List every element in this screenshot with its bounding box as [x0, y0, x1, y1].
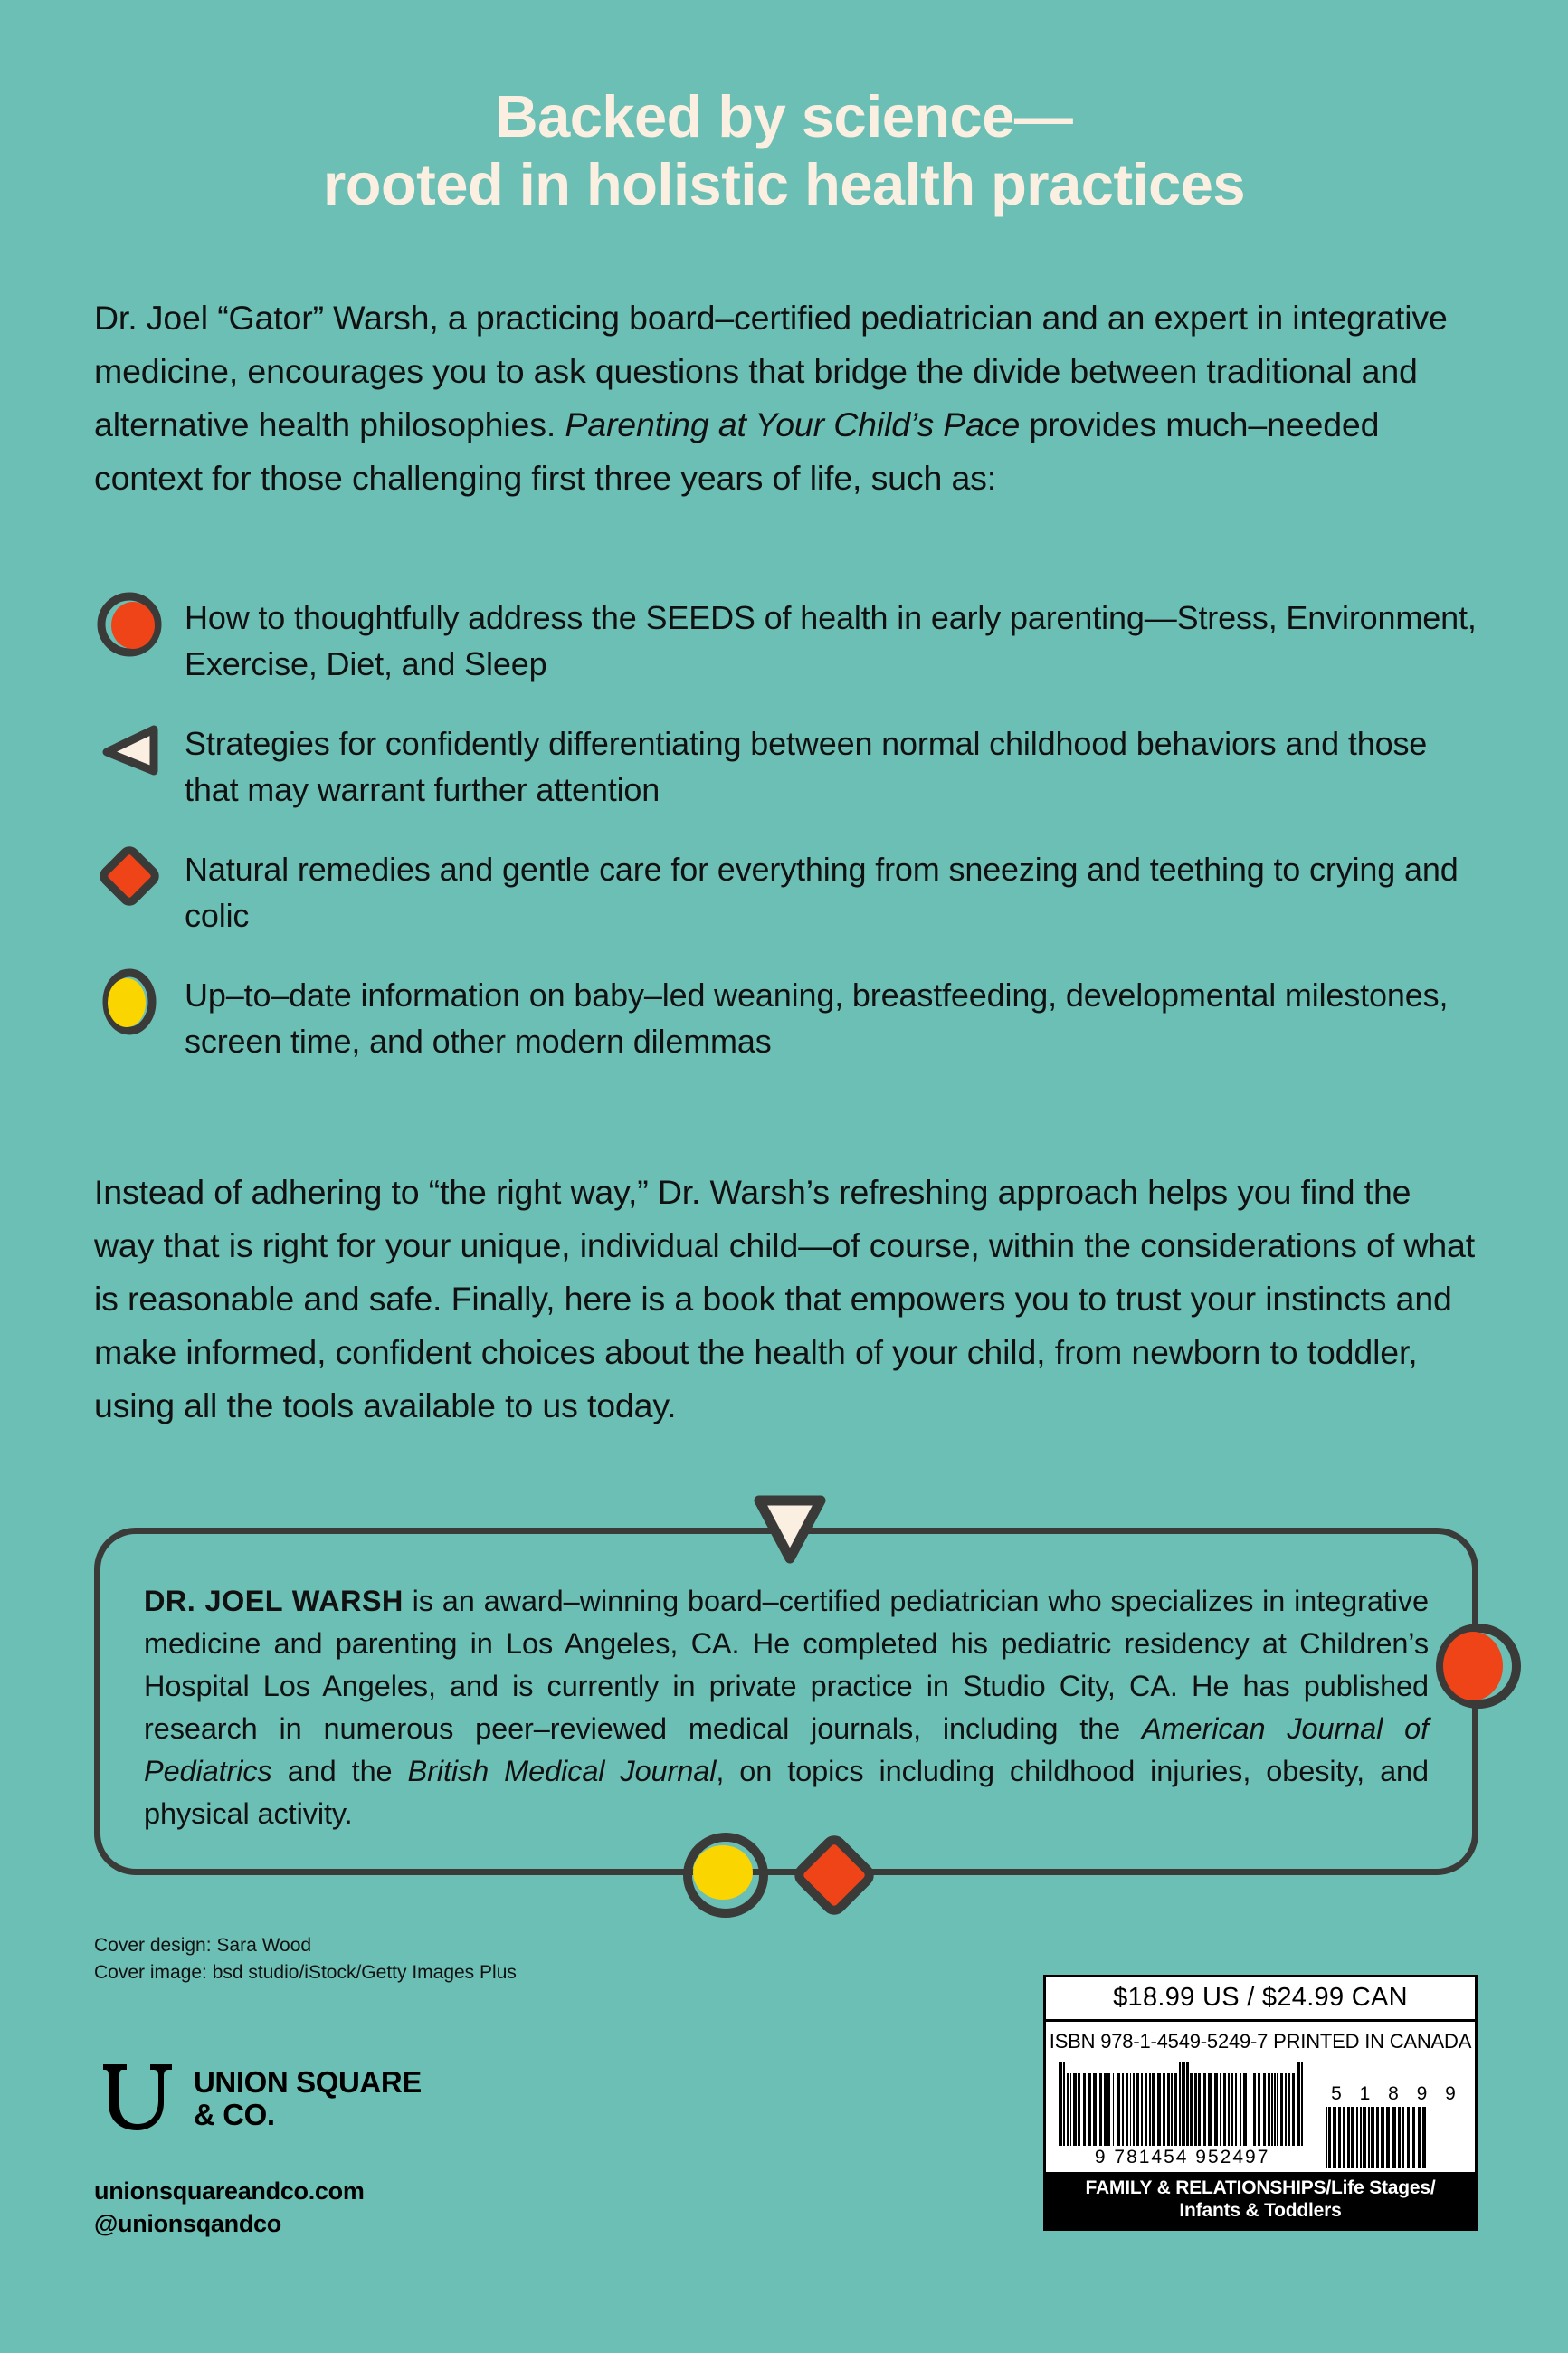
list-item: Up–to–date information on baby–led weani…: [94, 970, 1478, 1064]
isbn-label: ISBN 978-1-4549-5249-7 PRINTED IN CANADA: [1046, 2022, 1475, 2055]
author-name: DR. JOEL WARSH: [144, 1585, 404, 1617]
bisac-line-1: FAMILY & RELATIONSHIPS/Life Stages/: [1050, 2177, 1471, 2199]
list-item: Strategies for confidently differentiati…: [94, 719, 1478, 813]
ean5-digits: 5 1 8 9 9: [1326, 2083, 1462, 2105]
author-bio-text: DR. JOEL WARSH is an award–winning board…: [144, 1580, 1429, 1835]
journal-name-2: British Medical Journal: [408, 1755, 717, 1787]
list-item-label: How to thoughtfully address the SEEDS of…: [185, 593, 1478, 687]
circle-orange-icon: [94, 589, 165, 660]
union-square-u-icon: [94, 2053, 177, 2137]
circle-yellow-icon: [94, 967, 165, 1037]
publisher-social-handle[interactable]: @unionsqandco: [94, 2207, 365, 2240]
ean13-digits: 9 781454 952497: [1059, 2147, 1306, 2168]
cover-credits: Cover design: Sara Wood Cover image: bsd…: [94, 1932, 517, 1986]
publisher-website[interactable]: unionsquareandco.com: [94, 2175, 365, 2207]
publisher-name: UNION SQUARE & CO.: [194, 2066, 422, 2131]
list-item-label: Up–to–date information on baby–led weani…: [185, 970, 1478, 1064]
barcode-bars-area: 9 781454 952497 5 1 8 9 9: [1046, 2055, 1475, 2172]
circle-orange-decoration-icon: [1430, 1618, 1526, 1714]
feature-bullet-list: How to thoughtfully address the SEEDS of…: [94, 593, 1478, 1096]
page-title: Backed by science— rooted in holistic he…: [0, 83, 1568, 219]
ean5-bars: [1326, 2107, 1462, 2168]
headline-line-1: Backed by science—: [496, 83, 1073, 149]
diamond-orange-decoration-icon: [784, 1824, 885, 1926]
publisher-name-line-1: UNION SQUARE: [194, 2066, 422, 2099]
book-title-italic: Parenting at Your Child’s Pace: [565, 405, 1020, 443]
list-item-label: Strategies for confidently differentiati…: [185, 719, 1478, 813]
publisher-logo: UNION SQUARE & CO.: [94, 2057, 422, 2140]
bisac-category: FAMILY & RELATIONSHIPS/Life Stages/ Infa…: [1046, 2172, 1475, 2228]
closing-paragraph: Instead of adhering to “the right way,” …: [94, 1166, 1478, 1433]
list-item: How to thoughtfully address the SEEDS of…: [94, 593, 1478, 687]
intro-paragraph: Dr. Joel “Gator” Warsh, a practicing boa…: [94, 291, 1478, 505]
book-back-cover: Backed by science— rooted in holistic he…: [0, 0, 1568, 2353]
price-label: $18.99 US / $24.99 CAN: [1046, 1977, 1475, 2022]
list-item-label: Natural remedies and gentle care for eve…: [185, 844, 1478, 938]
triangle-down-cream-icon: [736, 1472, 844, 1580]
triangle-left-cream-icon: [94, 715, 165, 786]
headline-line-2: rooted in holistic health practices: [0, 151, 1568, 219]
ean13-barcode: 9 781454 952497: [1059, 2062, 1306, 2168]
ean13-bars: [1059, 2062, 1306, 2146]
publisher-name-line-2: & CO.: [194, 2099, 422, 2131]
author-bio-container: DR. JOEL WARSH is an award–winning board…: [94, 1528, 1478, 1875]
diamond-orange-icon: [94, 841, 165, 911]
list-item: Natural remedies and gentle care for eve…: [94, 844, 1478, 938]
barcode-block: $18.99 US / $24.99 CAN ISBN 978-1-4549-5…: [1043, 1975, 1478, 2231]
publisher-links: unionsquareandco.com @unionsqandco: [94, 2175, 365, 2240]
bio-part-2: and the: [272, 1755, 408, 1787]
cover-image-credit: Cover image: bsd studio/iStock/Getty Ima…: [94, 1959, 517, 1986]
ean5-addon-barcode: 5 1 8 9 9: [1326, 2083, 1462, 2168]
circle-yellow-decoration-icon: [678, 1827, 774, 1923]
cover-design-credit: Cover design: Sara Wood: [94, 1932, 517, 1959]
bisac-line-2: Infants & Toddlers: [1050, 2199, 1471, 2222]
